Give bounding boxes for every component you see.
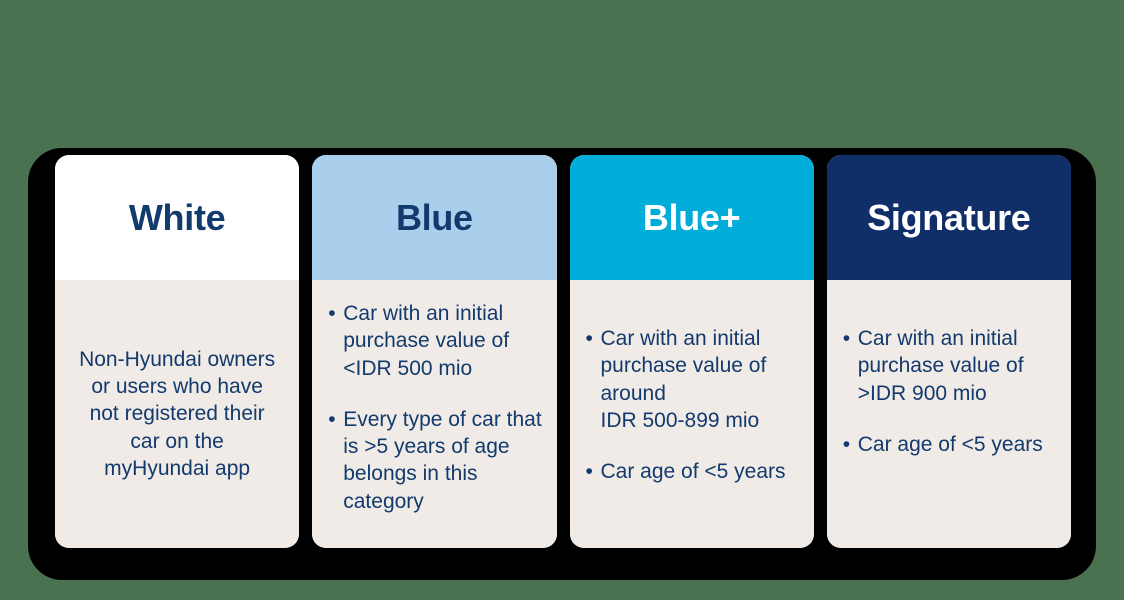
tier-card-list: White Non-Hyundai owners or users who ha…: [55, 155, 1071, 548]
tier-description-white: Non-Hyundai owners or users who have not…: [77, 346, 277, 482]
tier-card-blue-plus[interactable]: Blue+ Car with an initial purchase value…: [570, 155, 814, 548]
bullet-text: Car with an initial purchase value of <I…: [343, 300, 546, 382]
tier-card-blue[interactable]: Blue Car with an initial purchase value …: [312, 155, 556, 548]
bullet-text: Car age of <5 years: [858, 431, 1061, 458]
tier-card-header-blue: Blue: [312, 155, 556, 280]
bullet-text: Car age of <5 years: [601, 458, 804, 485]
tier-card-body-signature: Car with an initial purchase value of >I…: [827, 280, 1071, 548]
tier-card-header-blue-plus: Blue+: [570, 155, 814, 280]
bullet-text: Car with an initial purchase value of >I…: [858, 325, 1061, 407]
tier-bullet-list-blue: Car with an initial purchase value of <I…: [328, 300, 546, 515]
tier-card-signature[interactable]: Signature Car with an initial purchase v…: [827, 155, 1071, 548]
tier-card-body-blue-plus: Car with an initial purchase value of ar…: [570, 280, 814, 548]
list-item: Car age of <5 years: [586, 458, 804, 485]
list-item: Car with an initial purchase value of >I…: [843, 325, 1061, 407]
tier-card-header-signature: Signature: [827, 155, 1071, 280]
list-item: Car age of <5 years: [843, 431, 1061, 458]
tier-title-blue-plus: Blue+: [643, 197, 741, 239]
tier-card-body-blue: Car with an initial purchase value of <I…: [312, 280, 556, 548]
tier-card-header-white: White: [55, 155, 299, 280]
tier-title-white: White: [129, 197, 225, 239]
bullet-text: Every type of car that is >5 years of ag…: [343, 406, 546, 515]
list-item: Car with an initial purchase value of <I…: [328, 300, 546, 382]
comparison-card-row: White Non-Hyundai owners or users who ha…: [0, 0, 1124, 600]
tier-card-white[interactable]: White Non-Hyundai owners or users who ha…: [55, 155, 299, 548]
tier-title-blue: Blue: [396, 197, 473, 239]
bullet-text: Car with an initial purchase value of ar…: [601, 325, 804, 434]
tier-title-signature: Signature: [867, 197, 1030, 239]
list-item: Every type of car that is >5 years of ag…: [328, 406, 546, 515]
tier-bullet-list-signature: Car with an initial purchase value of >I…: [843, 325, 1061, 458]
tier-card-body-white: Non-Hyundai owners or users who have not…: [55, 280, 299, 548]
list-item: Car with an initial purchase value of ar…: [586, 325, 804, 434]
tier-bullet-list-blue-plus: Car with an initial purchase value of ar…: [586, 325, 804, 485]
